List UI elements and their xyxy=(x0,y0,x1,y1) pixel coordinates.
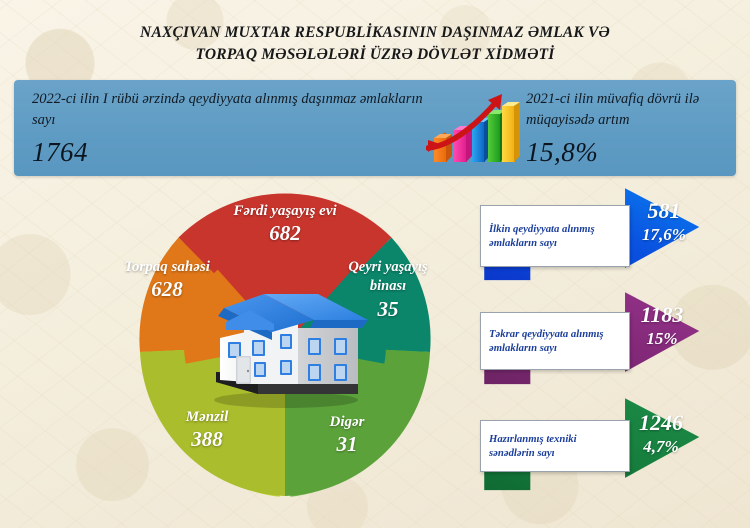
banner-right-block: 2021-ci ilin müvafiq dövrü ilə müqayisəd… xyxy=(526,89,731,169)
banner-left-value: 1764 xyxy=(32,135,432,169)
callout-1-box: İlkin qeydiyyata alınmış əmlakların sayı xyxy=(480,205,630,267)
callout-ilkin-qeydiyyat[interactable]: İlkin qeydiyyata alınmış əmlakların sayı… xyxy=(468,178,750,290)
property-type-donut-chart: Fərdi yaşayış evi 682 Torpaq sahəsi 628 … xyxy=(120,180,450,510)
callout-2-value: 1183 xyxy=(616,302,708,328)
page-title-line-2: TORPAQ MƏSƏLƏLƏRİ ÜZRƏ DÖVLƏT XİDMƏTİ xyxy=(0,44,750,66)
callout-3-percent: 4,7% xyxy=(614,436,708,457)
callout-3-label: Hazırlanmış texniki sənədlərin sayı xyxy=(481,432,629,461)
summary-banner: 2022-ci ilin I rübü ərzində qeydiyyata a… xyxy=(14,80,736,176)
callout-texniki-senedler[interactable]: Hazırlanmış texniki sənədlərin sayı 1246… xyxy=(468,388,750,504)
house-icon xyxy=(198,276,373,411)
banner-left-label: 2022-ci ilin I rübü ərzində qeydiyyata a… xyxy=(32,89,432,131)
callout-1-label: İlkin qeydiyyata alınmış əmlakların sayı xyxy=(481,222,629,251)
callout-1-percent: 17,6% xyxy=(618,224,710,245)
callout-2-percent: 15% xyxy=(616,328,708,349)
callout-1-values: 581 17,6% xyxy=(618,198,710,245)
page-title-line-1: NAXÇIVAN MUXTAR RESPUBLİKASININ DAŞINMAZ… xyxy=(140,24,610,41)
banner-right-label: 2021-ci ilin müvafiq dövrü ilə müqayisəd… xyxy=(526,89,731,131)
callout-2-label: Təkrar qeydiyyata alınmış əmlakların say… xyxy=(481,327,629,356)
bar-chart-growth-icon xyxy=(426,94,522,166)
callout-3-value: 1246 xyxy=(614,410,708,436)
callout-3-box: Hazırlanmış texniki sənədlərin sayı xyxy=(480,420,630,472)
callout-1-value: 581 xyxy=(618,198,710,224)
callout-3-values: 1246 4,7% xyxy=(614,410,708,457)
callout-tekrar-qeydiyyat[interactable]: Təkrar qeydiyyata alınmış əmlakların say… xyxy=(468,282,750,394)
page-title: NAXÇIVAN MUXTAR RESPUBLİKASININ DAŞINMAZ… xyxy=(0,22,750,66)
banner-right-value: 15,8% xyxy=(526,135,731,169)
banner-left-block: 2022-ci ilin I rübü ərzində qeydiyyata a… xyxy=(32,89,432,169)
callout-2-values: 1183 15% xyxy=(616,302,708,349)
callout-2-box: Təkrar qeydiyyata alınmış əmlakların say… xyxy=(480,312,630,370)
